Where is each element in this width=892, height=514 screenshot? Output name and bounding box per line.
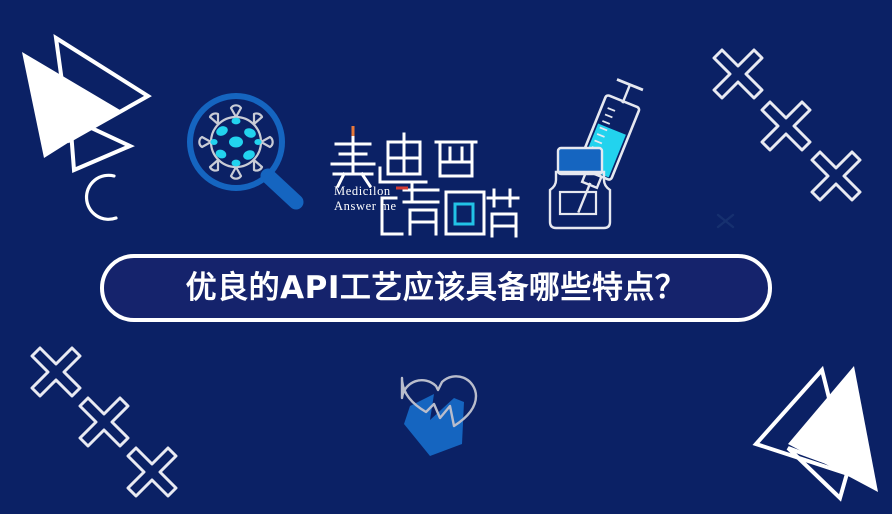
headline-text: 优良的API工艺应该具备哪些特点？: [186, 273, 687, 304]
brand-logo: Medicilon Answer me: [326, 122, 522, 240]
logo-latin-text: Medicilon Answer me: [334, 184, 397, 214]
logo-chinese-characters: [326, 122, 522, 240]
double-triangle-left-decoration: [744, 352, 892, 514]
headline-pill: 优良的API工艺应该具备哪些特点？: [100, 254, 772, 322]
syringe-vial-icon: [540, 68, 668, 235]
logo-latin-line-2: Answer me: [334, 199, 397, 214]
poster-canvas: Medicilon Answer me 优良的API工艺应该具备哪些特点？: [0, 0, 892, 514]
virus-magnifier-icon: [180, 88, 312, 223]
open-arc-decoration: [78, 170, 124, 231]
cross-cluster-bottom-left: [10, 330, 200, 514]
heart-pulse-icon: [372, 358, 490, 473]
cross-cluster-top-right: [700, 18, 892, 213]
logo-latin-line-1: Medicilon: [334, 184, 397, 199]
